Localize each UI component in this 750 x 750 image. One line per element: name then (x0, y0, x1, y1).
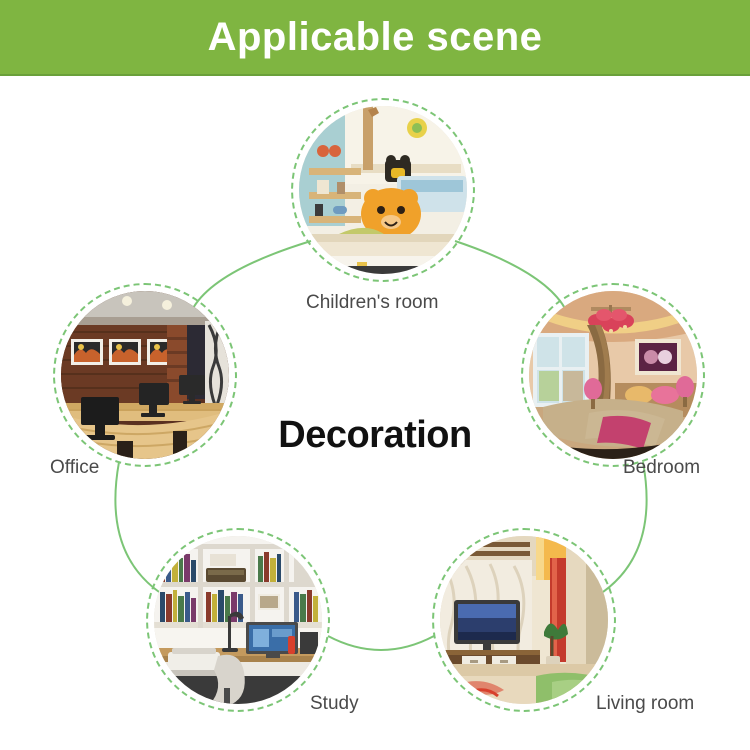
scene-node-study[interactable] (146, 528, 330, 712)
scene-label-office: Office (50, 457, 99, 479)
scene-label-study: Study (310, 693, 359, 715)
node-ring-bedroom (521, 283, 705, 467)
node-ring-office (53, 283, 237, 467)
scene-label-bedroom: Bedroom (623, 457, 700, 479)
scene-node-bedroom[interactable] (521, 283, 705, 467)
scene-node-living[interactable] (432, 528, 616, 712)
applicable-scene-infographic: Applicable scene Decoration (0, 0, 750, 750)
page-title: Applicable scene (208, 17, 543, 57)
scene-label-living: Living room (596, 693, 694, 715)
node-ring-living (432, 528, 616, 712)
node-ring-study (146, 528, 330, 712)
scene-node-office[interactable] (53, 283, 237, 467)
scene-label-children: Children's room (306, 292, 438, 314)
header-banner: Applicable scene (0, 0, 750, 74)
connector-living-study (328, 636, 434, 650)
scene-node-children[interactable] (291, 98, 475, 282)
scene-diagram: Decoration (0, 76, 750, 750)
node-ring-children (291, 98, 475, 282)
